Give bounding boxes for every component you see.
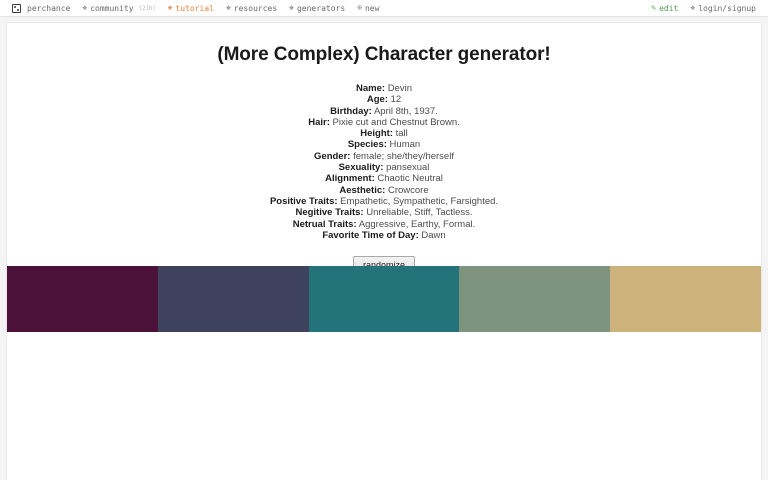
- nav-item-label: tutorial: [175, 0, 214, 17]
- character-field-row: Name: Devin: [7, 83, 761, 94]
- nav-item-label: community: [90, 0, 133, 17]
- top-navbar: perchance❖community(21h)❖tutorial❖resour…: [0, 0, 768, 17]
- character-field-row: Hair: Pixie cut and Chestnut Brown.: [7, 117, 761, 128]
- nav-item-edit[interactable]: ✎edit: [645, 0, 684, 17]
- character-sheet: Name: DevinAge: 12Birthday: April 8th, 1…: [7, 83, 761, 241]
- nav-item-login-signup[interactable]: ❖login/signup: [684, 0, 762, 17]
- character-field-value: Dawn: [421, 230, 445, 241]
- character-field-value: Empathetic, Sympathetic, Farsighted.: [340, 196, 498, 207]
- character-field-label: Hair:: [308, 117, 330, 128]
- nav-item-label: new: [365, 0, 379, 17]
- character-field-label: Aesthetic:: [339, 185, 385, 196]
- globe-icon: ⊕: [357, 4, 362, 12]
- character-field-row: Favorite Time of Day: Dawn: [7, 230, 761, 241]
- nav-item-new[interactable]: ⊕new: [351, 0, 385, 17]
- nav-item-generators[interactable]: ❖generators: [283, 0, 351, 17]
- nav-item-label: perchance: [27, 0, 70, 17]
- character-field-label: Species:: [348, 139, 387, 150]
- nav-item-perchance[interactable]: perchance: [6, 0, 76, 17]
- swatch-teal: [309, 266, 460, 332]
- character-field-row: Sexuality: pansexual: [7, 162, 761, 173]
- character-field-row: Alignment: Chaotic Neutral: [7, 173, 761, 184]
- character-field-value: female; she/they/herself: [353, 151, 454, 162]
- character-field-value: Crowcore: [388, 185, 429, 196]
- character-field-value: Aggressive, Earthy, Formal.: [359, 219, 476, 230]
- swatch-sage: [459, 266, 610, 332]
- character-field-value: Human: [390, 139, 421, 150]
- character-field-row: Species: Human: [7, 139, 761, 150]
- character-field-row: Positive Traits: Empathetic, Sympathetic…: [7, 196, 761, 207]
- nav-item-label: generators: [297, 0, 345, 17]
- character-field-label: Name:: [356, 83, 385, 94]
- swatch-plum: [7, 266, 158, 332]
- character-field-label: Birthday:: [330, 106, 372, 117]
- page-title: (More Complex) Character generator!: [7, 44, 761, 66]
- generator-page-frame: (More Complex) Character generator! Name…: [6, 22, 762, 480]
- book-icon: ❖: [226, 4, 231, 12]
- character-field-value: Pixie cut and Chestnut Brown.: [333, 117, 460, 128]
- character-field-label: Sexuality:: [339, 162, 384, 173]
- navbar-left-group: perchance❖community(21h)❖tutorial❖resour…: [6, 0, 385, 17]
- character-field-label: Favorite Time of Day:: [322, 230, 418, 241]
- character-field-value: 12: [391, 94, 402, 105]
- color-palette-strip: [7, 266, 761, 332]
- swatch-tan: [610, 266, 761, 332]
- character-field-value: April 8th, 1937.: [374, 106, 438, 117]
- character-field-row: Height: tall: [7, 128, 761, 139]
- character-field-value: Unreliable, Stiff, Tactless.: [366, 207, 472, 218]
- character-field-label: Alignment:: [325, 173, 375, 184]
- nav-item-tutorial[interactable]: ❖tutorial: [162, 0, 220, 17]
- nav-item-label: edit: [659, 0, 678, 17]
- character-field-label: Positive Traits:: [270, 196, 338, 207]
- pencil-icon: ✎: [651, 4, 656, 12]
- user-icon: ❖: [690, 4, 695, 12]
- navbar-right-group: ✎edit❖login/signup: [645, 0, 762, 17]
- character-field-value: pansexual: [386, 162, 429, 173]
- nav-item-badge: (21h): [139, 0, 156, 17]
- character-field-value: tall: [396, 128, 408, 139]
- character-field-row: Age: 12: [7, 94, 761, 105]
- character-field-value: Chaotic Neutral: [377, 173, 442, 184]
- nav-item-resources[interactable]: ❖resources: [220, 0, 283, 17]
- nav-item-community[interactable]: ❖community(21h): [76, 0, 161, 17]
- perchance-logo-icon: [12, 4, 21, 13]
- character-field-row: Netrual Traits: Aggressive, Earthy, Form…: [7, 219, 761, 230]
- character-field-label: Gender:: [314, 151, 350, 162]
- character-field-label: Netrual Traits:: [293, 219, 357, 230]
- character-field-value: Devin: [388, 83, 412, 94]
- nav-item-label: resources: [234, 0, 277, 17]
- character-field-label: Height:: [360, 128, 393, 139]
- character-field-label: Negitive Traits:: [295, 207, 363, 218]
- character-field-row: Birthday: April 8th, 1937.: [7, 106, 761, 117]
- nav-item-label: login/signup: [698, 0, 756, 17]
- book-icon: ❖: [82, 4, 87, 12]
- book-icon: ❖: [289, 4, 294, 12]
- character-field-row: Gender: female; she/they/herself: [7, 151, 761, 162]
- character-field-label: Age:: [367, 94, 388, 105]
- character-field-row: Negitive Traits: Unreliable, Stiff, Tact…: [7, 207, 761, 218]
- character-field-row: Aesthetic: Crowcore: [7, 185, 761, 196]
- book-icon: ❖: [168, 4, 173, 12]
- swatch-slate: [158, 266, 309, 332]
